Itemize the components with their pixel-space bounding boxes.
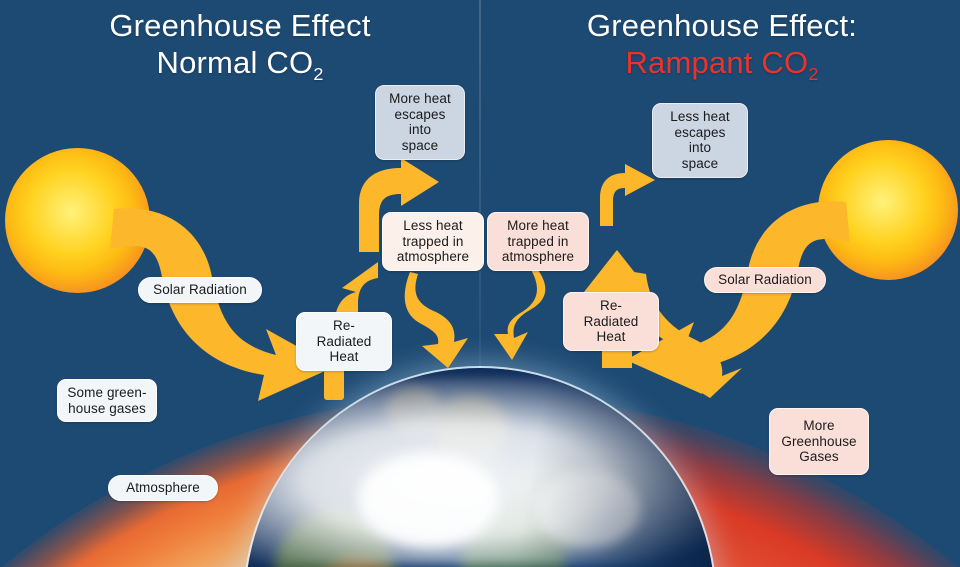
label-greenhouse-gases-right: More Greenhouse Gases: [769, 408, 869, 475]
title-right-line2: Rampant CO2: [492, 45, 952, 82]
panel-divider: [479, 0, 481, 400]
greenhouse-effect-diagram: More heat escapes into space Less heat t…: [0, 0, 960, 567]
label-heat-escape-left: More heat escapes into space: [375, 85, 465, 160]
title-left-line2-text: Normal CO: [156, 45, 313, 80]
earth-globe-icon: [245, 368, 715, 567]
label-solar-radiation-right: Solar Radiation: [704, 267, 826, 293]
sun-icon-right: [818, 140, 958, 280]
label-atmosphere-left: Atmosphere: [108, 475, 218, 501]
label-solar-radiation-left: Solar Radiation: [138, 277, 262, 303]
page-title-left: Greenhouse Effect Normal CO2: [10, 8, 470, 81]
title-left-line1: Greenhouse Effect: [10, 8, 470, 45]
label-reradiated-heat-right: Re-Radiated Heat: [563, 292, 659, 351]
title-right-subscript: 2: [808, 64, 818, 84]
title-right-line2-text: Rampant CO: [625, 45, 808, 80]
label-greenhouse-gases-left: Some green- house gases: [57, 379, 157, 422]
title-right-line1: Greenhouse Effect:: [492, 8, 952, 45]
page-title-right: Greenhouse Effect: Rampant CO2: [492, 8, 952, 81]
label-heat-trapped-right: More heat trapped in atmosphere: [487, 212, 589, 271]
sun-icon-left: [5, 148, 150, 293]
title-left-line2: Normal CO2: [10, 45, 470, 82]
title-left-subscript: 2: [313, 64, 323, 84]
label-heat-trapped-left: Less heat trapped in atmosphere: [382, 212, 484, 271]
label-reradiated-heat-left: Re-Radiated Heat: [296, 312, 392, 371]
label-heat-escape-right: Less heat escapes into space: [652, 103, 748, 178]
